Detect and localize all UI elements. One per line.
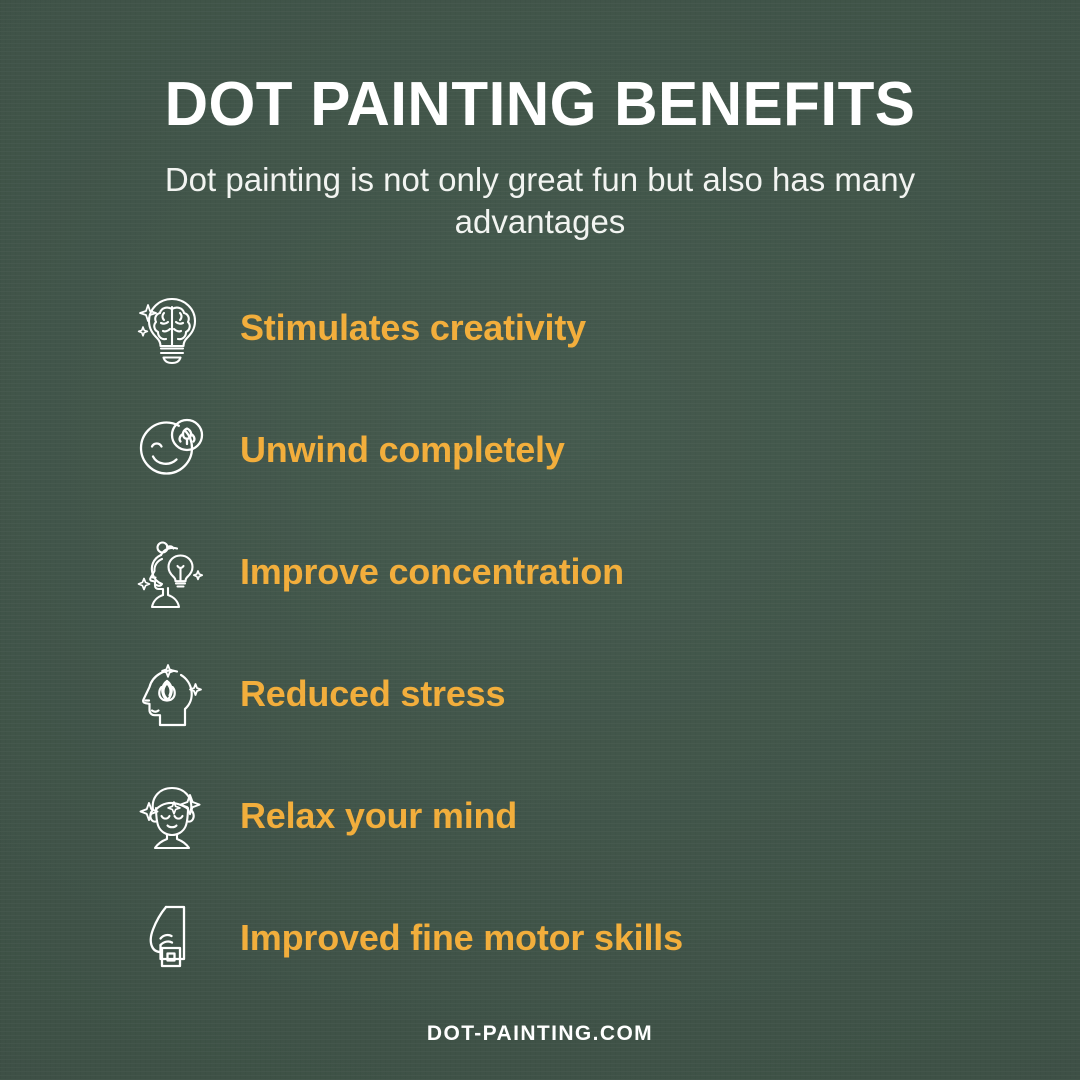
list-item-label: Reduced stress: [240, 673, 505, 715]
list-item-label: Relax your mind: [240, 795, 517, 837]
page-subtitle: Dot painting is not only great fun but a…: [125, 159, 955, 243]
list-item-label: Stimulates creativity: [240, 307, 586, 349]
list-item-label: Improved fine motor skills: [240, 917, 683, 959]
lightbulb-brain-sparkle-icon: [136, 290, 208, 366]
poster-header: DOT PAINTING BENEFITS Dot painting is no…: [0, 0, 1080, 244]
infographic-poster: DOT PAINTING BENEFITS Dot painting is no…: [0, 0, 1080, 1080]
list-item: Relax your mind: [136, 776, 1020, 856]
list-item: Improve concentration: [136, 532, 1020, 612]
smiley-flower-icon: [136, 412, 208, 488]
list-item: Reduced stress: [136, 654, 1020, 734]
page-title: DOT PAINTING BENEFITS: [16, 72, 1064, 137]
relaxed-face-stars-icon: [136, 778, 208, 854]
hand-holding-block-icon: [136, 900, 208, 976]
list-item: Unwind completely: [136, 410, 1020, 490]
footer-website[interactable]: DOT-PAINTING.COM: [0, 1022, 1080, 1046]
list-item-label: Unwind completely: [240, 429, 565, 471]
list-item: Stimulates creativity: [136, 288, 1020, 368]
head-lotus-sparkle-icon: [136, 656, 208, 732]
benefits-list: Stimulates creativity: [136, 288, 1020, 1020]
list-item: Improved fine motor skills: [136, 898, 1020, 978]
head-lightbulb-sparkle-icon: [136, 534, 208, 610]
list-item-label: Improve concentration: [240, 551, 624, 593]
